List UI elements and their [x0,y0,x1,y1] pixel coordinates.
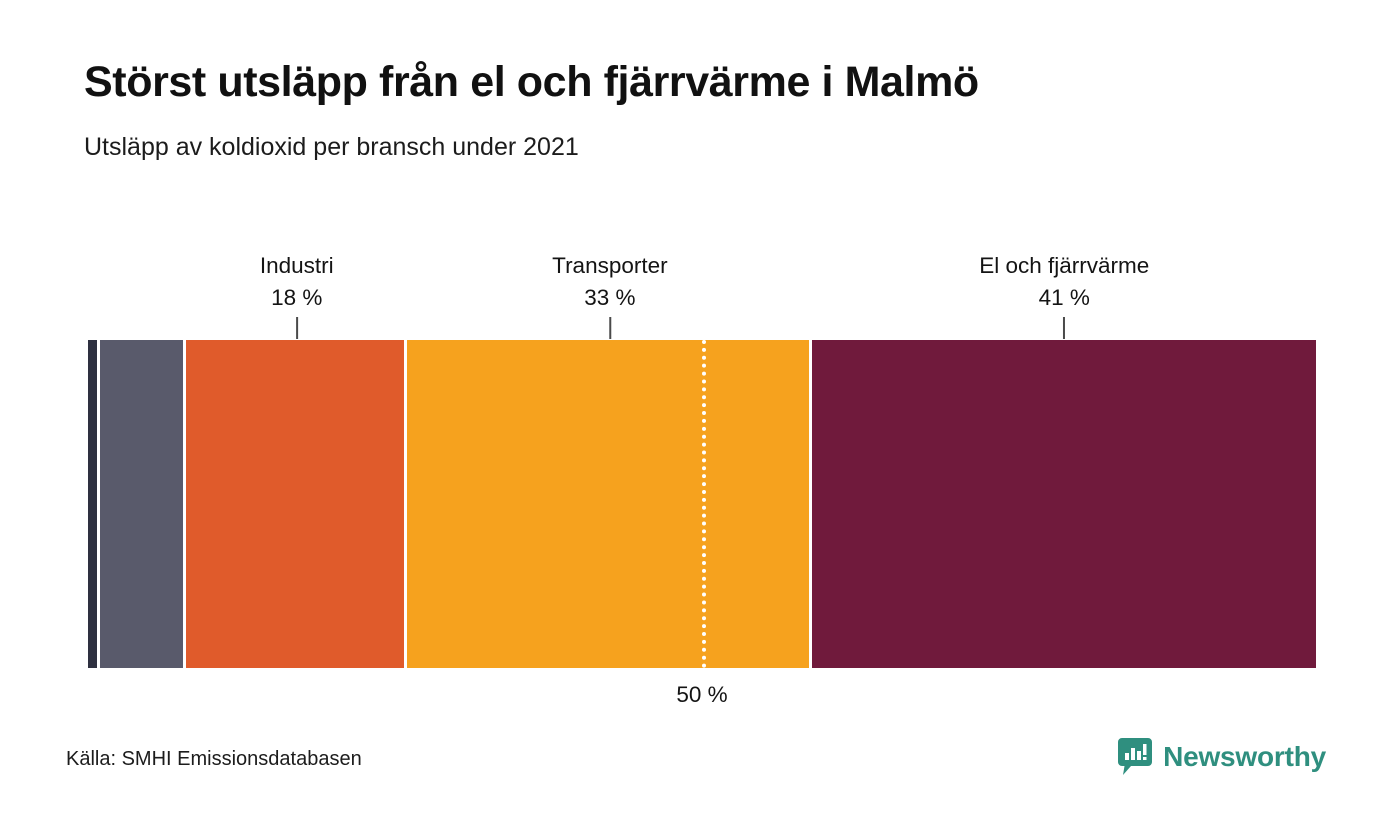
newsworthy-logo[interactable]: Newsworthy [1118,738,1326,775]
newsworthy-logo-text: Newsworthy [1163,743,1326,771]
bar-segment[interactable] [88,340,100,668]
segment-label-tick-icon [1063,317,1065,339]
segment-label-value: 41 % [979,282,1149,314]
bar-segment[interactable] [407,340,812,668]
segment-label-el-och-fjarrvarme: El och fjärrvärme 41 % [979,250,1149,339]
segment-label-industri: Industri 18 % [260,250,334,339]
segment-label-tick-icon [609,317,611,339]
segment-label-transporter: Transporter 33 % [552,250,667,339]
source-caption: Källa: SMHI Emissionsdatabasen [66,748,362,771]
segment-label-value: 18 % [260,282,334,314]
bar-segment[interactable] [186,340,407,668]
bar-chart-speech-bubble-icon [1118,738,1152,775]
bar-segment[interactable] [812,340,1315,668]
segment-label-name: Industri [260,250,334,282]
segment-label-value: 33 % [552,282,667,314]
reference-line-50pct [702,340,706,668]
chart-header: Störst utsläpp från el och fjärrvärme i … [84,58,1324,162]
segment-label-tick-icon [296,317,298,339]
page-title: Störst utsläpp från el och fjärrvärme i … [84,58,1324,106]
page-subtitle: Utsläpp av koldioxid per bransch under 2… [84,132,1324,162]
segment-label-name: El och fjärrvärme [979,250,1149,282]
segment-label-name: Transporter [552,250,667,282]
reference-line-label: 50 % [676,682,727,708]
chart-plot-area: Industri 18 % Transporter 33 % El och fj… [88,250,1316,750]
bar-segment[interactable] [100,340,186,668]
